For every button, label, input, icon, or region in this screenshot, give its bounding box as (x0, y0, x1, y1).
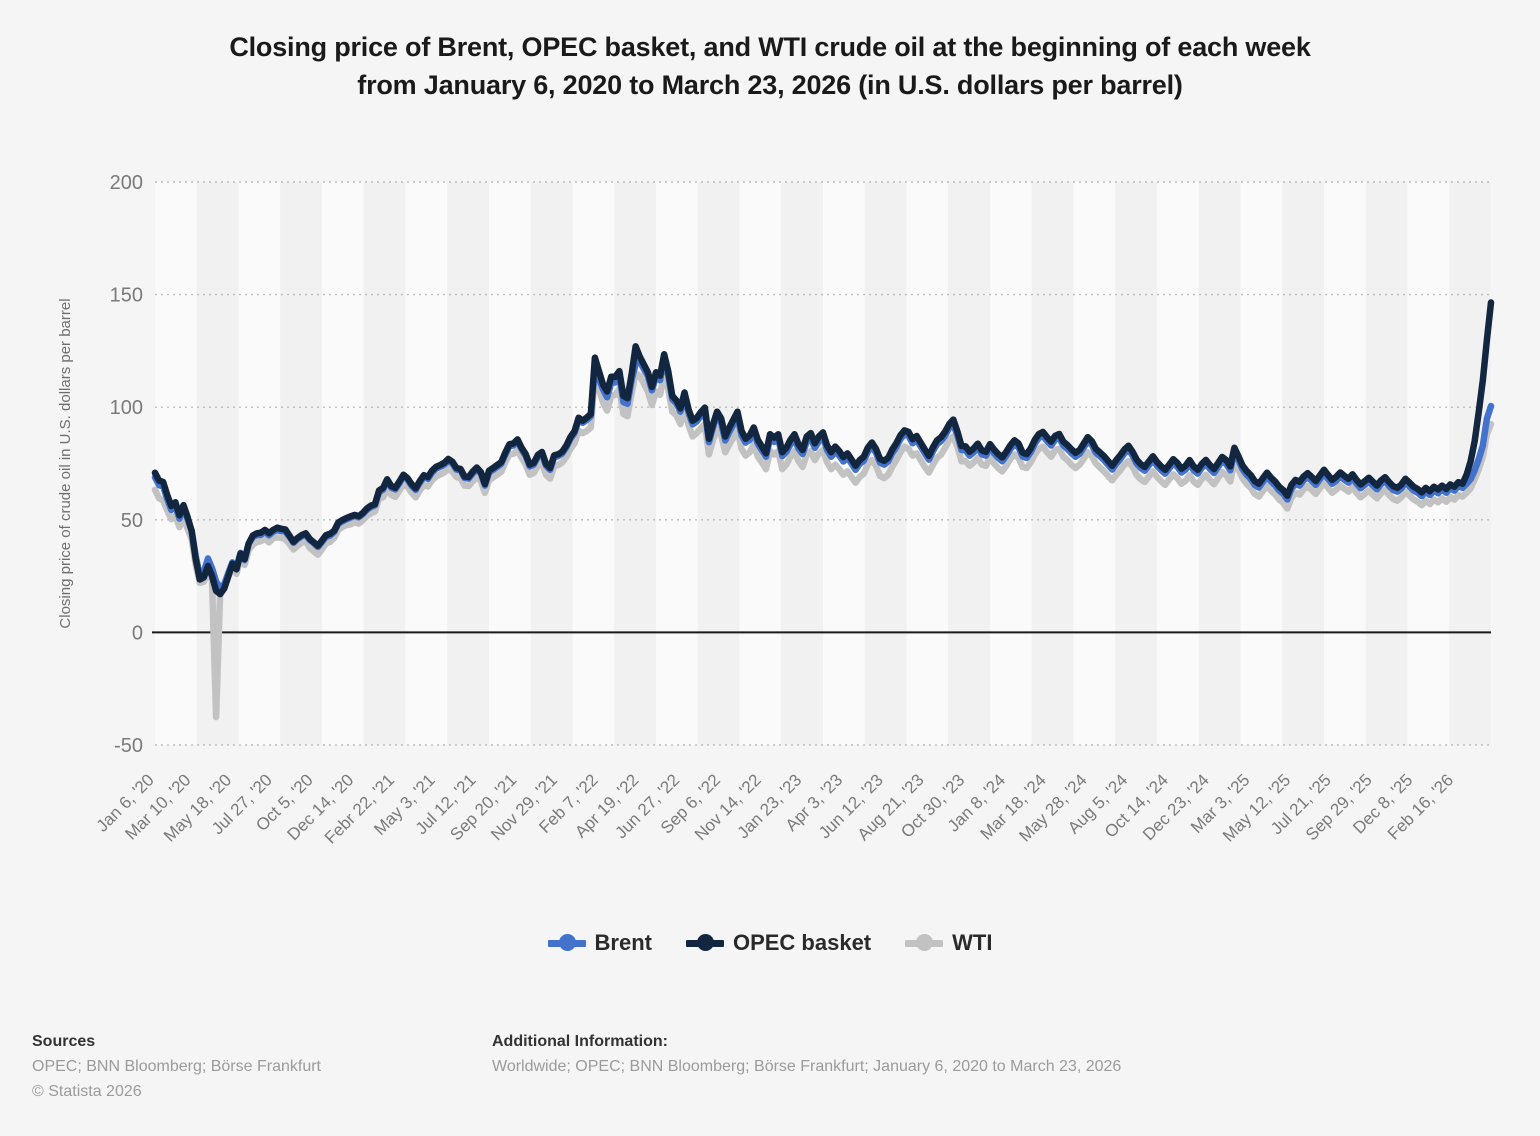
sources-text: OPEC; BNN Bloomberg; Börse Frankfurt (32, 1055, 321, 1080)
sources-heading: Sources (32, 1030, 321, 1055)
line-chart: 200150100500-50Closing price of crude oi… (0, 0, 1540, 1136)
legend-label-opec-basket: OPEC basket (733, 930, 871, 956)
y-axis-tick-label: 150 (110, 285, 143, 307)
legend-swatch-opec-basket (686, 934, 724, 952)
plot-band (573, 182, 615, 745)
plot-band (364, 182, 406, 745)
additional-info-text: Worldwide; OPEC; BNN Bloomberg; Börse Fr… (492, 1055, 1121, 1080)
plot-band (1408, 182, 1450, 745)
y-axis-title: Closing price of crude oil in U.S. dolla… (57, 298, 74, 628)
plot-band (1241, 182, 1283, 745)
chart-canvas: 200150100500-50Closing price of crude oi… (0, 0, 1540, 1136)
plot-band (322, 182, 364, 745)
y-axis-tick-label: 100 (110, 397, 143, 419)
copyright-text: © Statista 2026 (32, 1080, 321, 1105)
sources-block: Sources OPEC; BNN Bloomberg; Börse Frank… (32, 1030, 321, 1104)
legend-item-brent[interactable]: Brent (548, 930, 652, 956)
legend-label-brent: Brent (595, 930, 652, 956)
plot-band (907, 182, 949, 745)
legend-swatch-brent (548, 934, 586, 952)
plot-band (280, 182, 322, 745)
legend-swatch-wti (905, 934, 943, 952)
plot-band (1282, 182, 1324, 745)
y-axis-tick-label: 0 (132, 622, 143, 644)
additional-info-heading: Additional Information: (492, 1030, 1121, 1055)
y-axis-tick-label: -50 (114, 735, 143, 757)
plot-band (155, 182, 197, 745)
plot-band (1366, 182, 1408, 745)
y-axis-tick-label: 50 (121, 510, 143, 532)
chart-legend: Brent OPEC basket WTI (0, 930, 1540, 956)
legend-item-wti[interactable]: WTI (905, 930, 992, 956)
plot-band (698, 182, 740, 745)
additional-info-block: Additional Information: Worldwide; OPEC;… (492, 1030, 1121, 1080)
plot-band (656, 182, 698, 745)
plot-band (614, 182, 656, 745)
legend-item-opec-basket[interactable]: OPEC basket (686, 930, 871, 956)
plot-band (1324, 182, 1366, 745)
legend-label-wti: WTI (952, 930, 992, 956)
y-axis-tick-label: 200 (110, 172, 143, 194)
plot-band (239, 182, 281, 745)
